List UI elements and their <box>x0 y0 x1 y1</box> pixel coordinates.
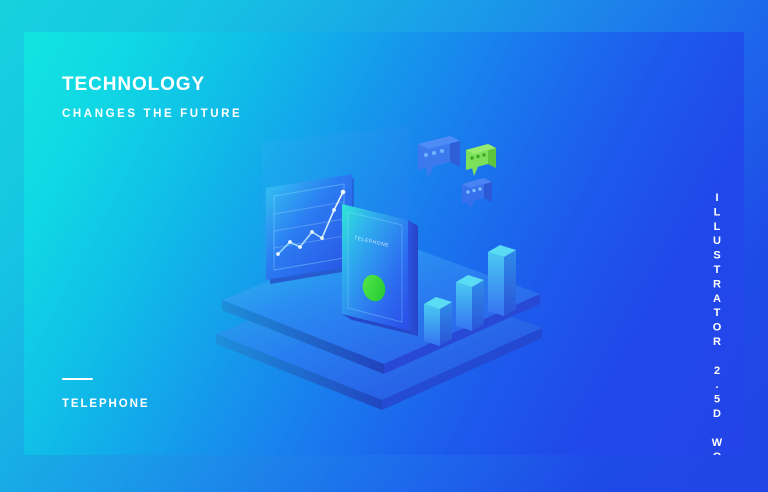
side-label: ILLUSTRATOR 2.5D WORKS <box>711 192 722 455</box>
chat-bubble-green <box>466 144 496 176</box>
smartphone: TELEPHONE <box>342 204 418 336</box>
bar-3 <box>488 245 516 316</box>
chat-bubble-small <box>462 178 492 210</box>
isometric-illustration: TELEPHONE <box>204 92 544 422</box>
monitor-card-with-line-chart <box>266 174 354 284</box>
poster-card: TELEPHONE <box>24 32 744 455</box>
bar-1 <box>424 297 452 346</box>
page-subtitle: CHANGES THE FUTURE <box>62 108 242 120</box>
screenshot-root: TELEPHONE <box>0 0 768 492</box>
footer-label: TELEPHONE <box>62 398 149 410</box>
divider-rule <box>62 378 93 380</box>
page-title: TECHNOLOGY <box>62 74 205 96</box>
chat-bubbles <box>418 136 496 210</box>
chat-bubble-large <box>418 136 460 178</box>
bar-2 <box>456 275 484 331</box>
